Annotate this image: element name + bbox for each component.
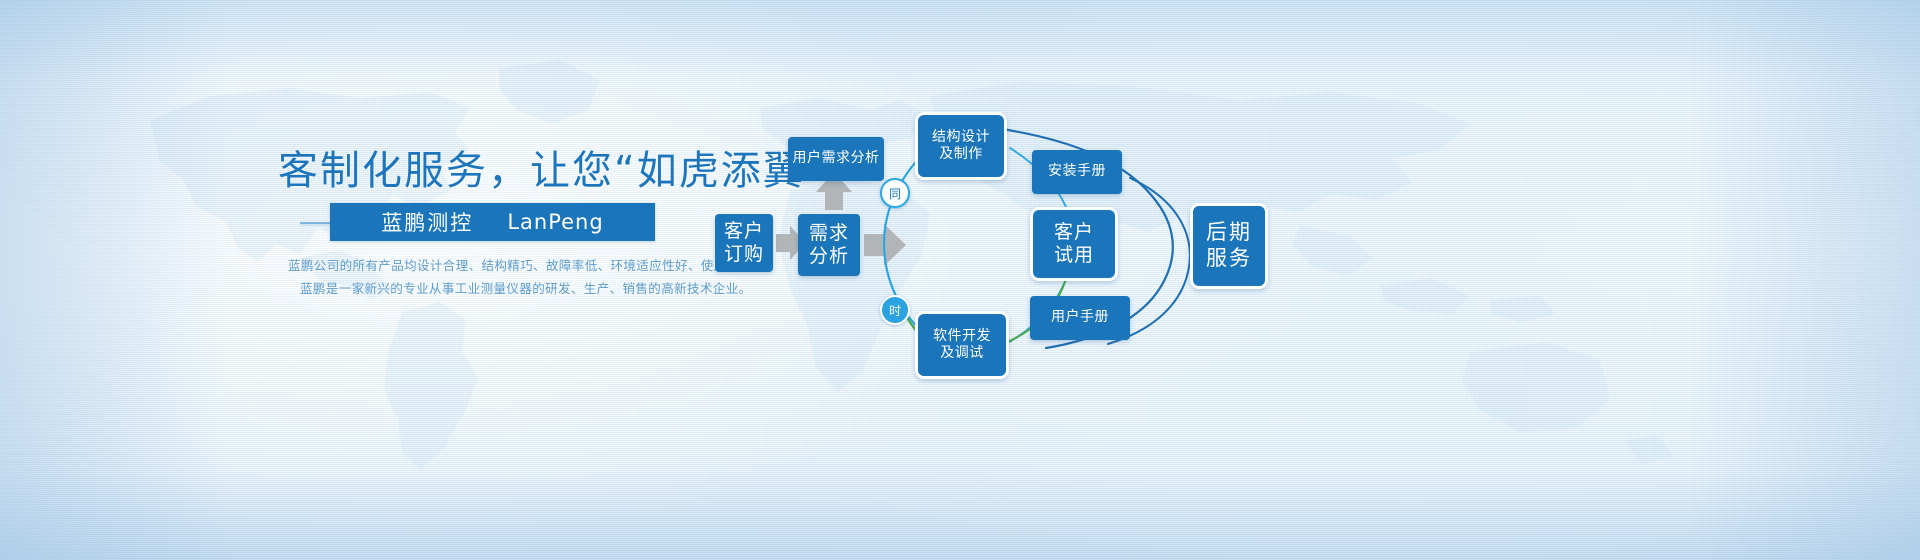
flow-badge-simultaneous-tong: 同 xyxy=(880,178,910,208)
flow-node-customer-order-line2: 订购 xyxy=(724,243,764,265)
flow-node-after-sales-service[interactable]: 后期 服务 xyxy=(1190,203,1268,289)
flow-node-installation-manual[interactable]: 安装手册 xyxy=(1032,150,1122,194)
flow-node-customer-order-line1: 客户 xyxy=(724,220,764,242)
flow-node-software-development-line1: 软件开发 xyxy=(933,328,991,344)
flow-node-requirement-analysis[interactable]: 需求 分析 xyxy=(798,214,860,276)
flow-node-structural-design-line2: 及制作 xyxy=(939,146,983,162)
flow-node-structural-design[interactable]: 结构设计 及制作 xyxy=(915,112,1007,180)
flow-node-structural-design-line1: 结构设计 xyxy=(932,129,990,145)
flow-node-software-development-line2: 及调试 xyxy=(940,345,984,361)
flow-node-software-development[interactable]: 软件开发 及调试 xyxy=(915,311,1009,379)
flow-node-requirement-analysis-line2: 分析 xyxy=(809,245,849,267)
flow-node-customer-trial-line2: 试用 xyxy=(1054,244,1094,266)
flow-node-customer-order[interactable]: 客户 订购 xyxy=(715,214,773,272)
flow-node-customer-trial-line1: 客户 xyxy=(1054,221,1094,243)
flow-node-user-requirement-analysis[interactable]: 用户需求分析 xyxy=(788,137,884,181)
flow-node-after-sales-service-line2: 服务 xyxy=(1206,246,1252,270)
flow-node-requirement-analysis-line1: 需求 xyxy=(809,222,849,244)
flow-badge-simultaneous-shi: 时 xyxy=(880,295,910,325)
customized-service-banner: 客制化服务，让您“如虎添翼” 蓝鹏测控 LanPeng 蓝鹏公司的所有产品均设计… xyxy=(0,0,1920,560)
process-flow-diagram: 用户需求分析 客户 订购 需求 分析 结构设计 及制作 软件开发 及调试 xyxy=(0,0,1920,560)
flow-node-after-sales-service-line1: 后期 xyxy=(1206,220,1252,244)
flow-node-user-manual[interactable]: 用户手册 xyxy=(1030,296,1130,340)
flow-connectors xyxy=(0,0,1920,560)
flow-node-customer-trial[interactable]: 客户 试用 xyxy=(1030,207,1118,281)
